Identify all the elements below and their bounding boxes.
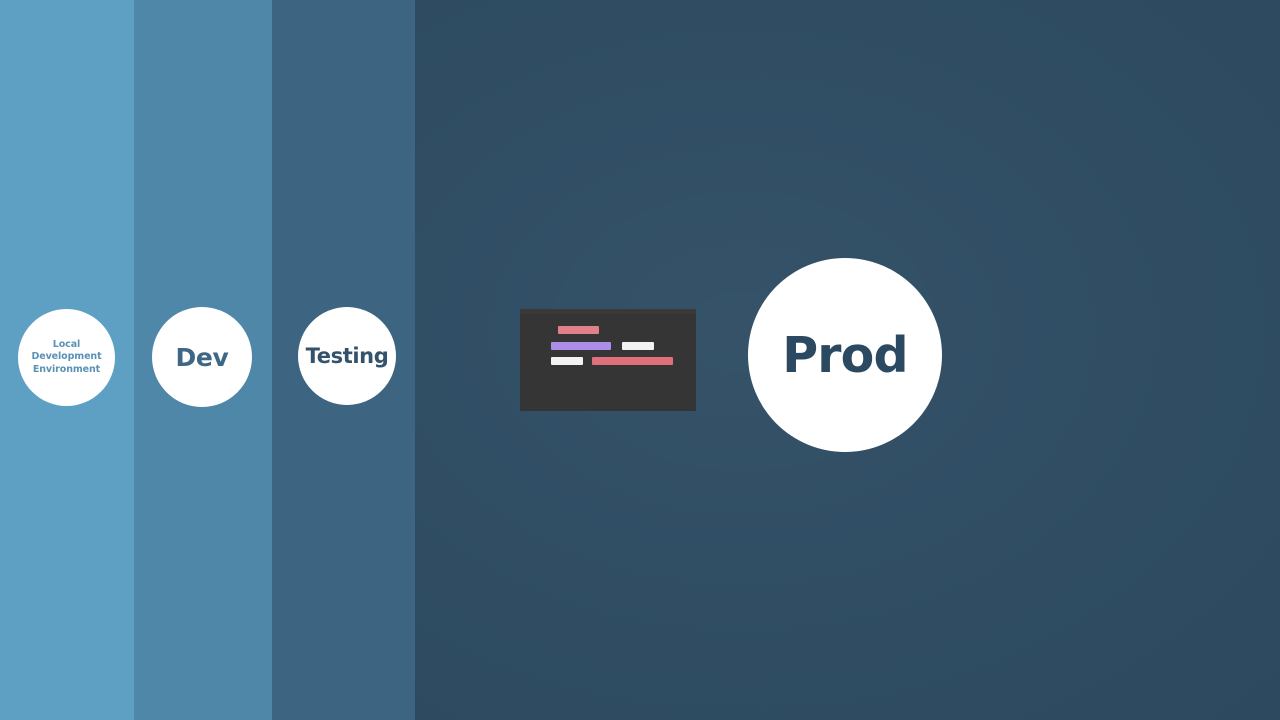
code-token-red — [558, 326, 599, 334]
stage-node-dev[interactable]: Dev — [152, 307, 252, 407]
pipeline-scene: Local Development Environment Dev Testin… — [0, 0, 1280, 720]
stage-node-local-label-line3: Environment — [31, 364, 101, 377]
stage-node-local-label-line1: Local — [31, 339, 101, 352]
code-token-red-long — [592, 357, 673, 365]
code-line-1 — [558, 326, 599, 334]
stage-node-testing[interactable]: Testing — [298, 307, 396, 405]
code-line-2 — [551, 342, 654, 350]
stage-node-dev-label: Dev — [175, 343, 228, 372]
stage-node-prod[interactable]: Prod — [748, 258, 942, 452]
code-token-white — [622, 342, 654, 350]
code-token-white-short — [551, 357, 583, 365]
stage-node-local-label-line2: Development — [31, 351, 101, 364]
stage-node-local-label-group: Local Development Environment — [31, 339, 101, 377]
stage-node-testing-label: Testing — [306, 344, 389, 368]
code-block[interactable] — [520, 309, 696, 411]
code-token-purple — [551, 342, 611, 350]
stage-node-local[interactable]: Local Development Environment — [18, 309, 115, 406]
code-line-3 — [551, 357, 673, 365]
stage-node-prod-label: Prod — [782, 327, 908, 384]
